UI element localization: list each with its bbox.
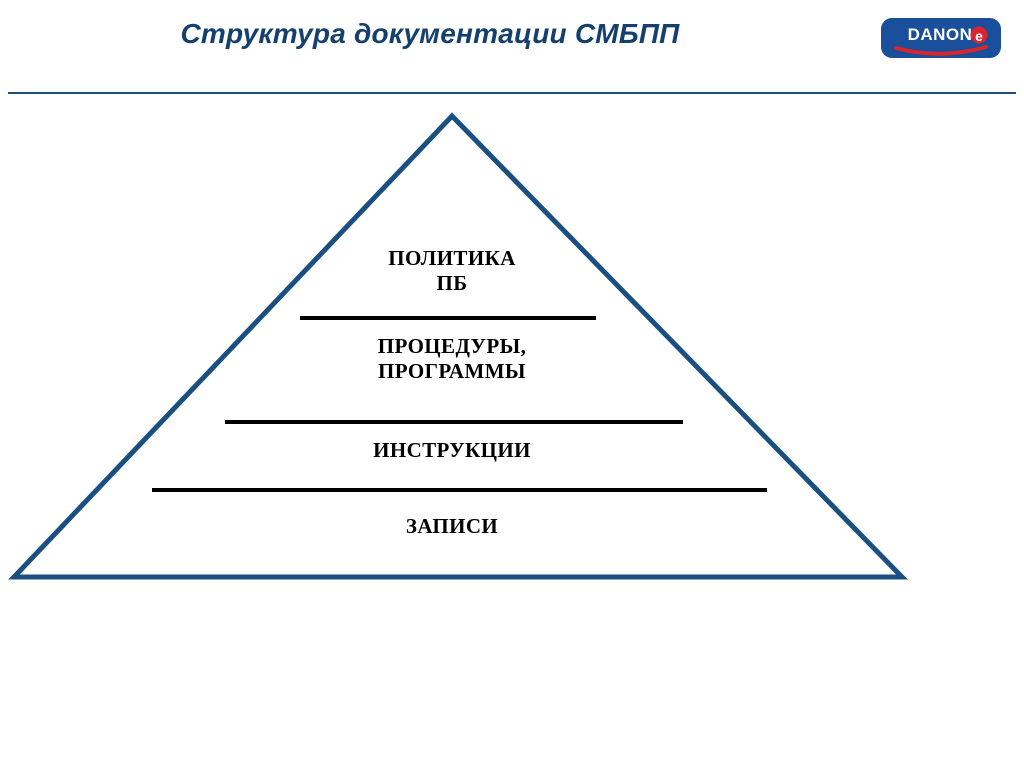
slide-header: Структура документации СМБПП DANON e — [0, 0, 1024, 90]
pyramid-level-records: ЗАПИСИ — [322, 514, 582, 539]
svg-text:e: e — [975, 28, 983, 44]
page-title: Структура документации СМБПП — [0, 18, 860, 50]
header-divider — [8, 92, 1016, 94]
pyramid-level-instructions: ИНСТРУКЦИИ — [322, 438, 582, 463]
documentation-pyramid: ПОЛИТИКА ПБ ПРОЦЕДУРЫ, ПРОГРАММЫ ИНСТРУК… — [0, 100, 1024, 600]
pyramid-level-policy: ПОЛИТИКА ПБ — [332, 246, 572, 296]
danone-logo: DANON e — [880, 14, 1002, 68]
pyramid-level-procedures: ПРОЦЕДУРЫ, ПРОГРАММЫ — [322, 334, 582, 384]
svg-text:DANON: DANON — [908, 25, 973, 44]
